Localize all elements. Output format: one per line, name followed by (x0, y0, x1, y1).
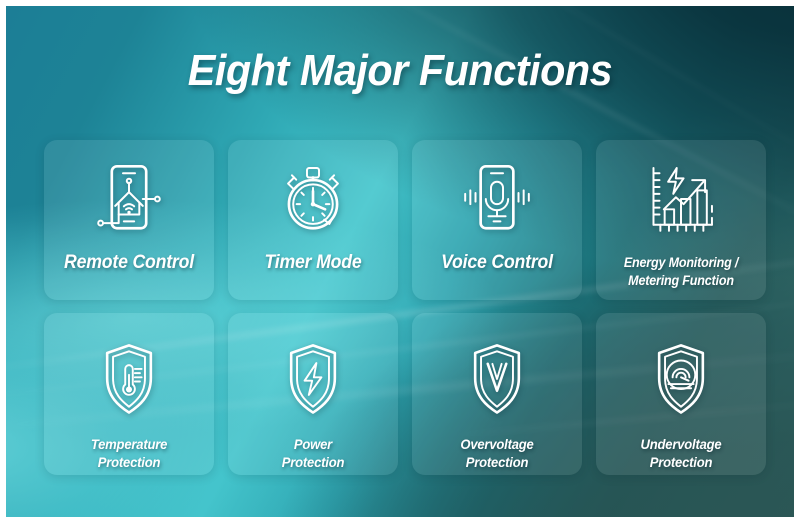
shield-thermometer-icon (83, 337, 175, 421)
poster-root: Eight Major Functions (0, 0, 800, 523)
card-remote-control[interactable]: Remote Control (44, 140, 214, 300)
smartphone-smart-home-wifi-icon (83, 156, 175, 242)
card-energy-monitoring[interactable]: Energy Monitoring / Metering Function (596, 140, 766, 300)
shield-bolt-icon (267, 337, 359, 421)
card-timer-mode[interactable]: Timer Mode (228, 140, 398, 300)
shield-letter-v-icon (451, 337, 543, 421)
stopwatch-icon (267, 156, 359, 242)
functions-grid: Remote Control (44, 140, 768, 475)
bar-chart-growth-bolt-icon (635, 156, 727, 242)
card-label: Timer Mode (239, 252, 388, 274)
card-label: Undervoltage Protection (607, 435, 756, 472)
page-title: Eight Major Functions (30, 46, 771, 96)
card-label: Temperature Protection (55, 435, 204, 472)
card-label: Energy Monitoring / Metering Function (607, 254, 756, 289)
card-label: Voice Control (423, 252, 572, 274)
card-voice-control[interactable]: Voice Control (412, 140, 582, 300)
card-power-protection[interactable]: Power Protection (228, 313, 398, 475)
card-label: Remote Control (55, 252, 204, 274)
card-label: Power Protection (239, 435, 388, 472)
card-label: Overvoltage Protection (423, 435, 572, 472)
shield-gauge-meter-icon (635, 337, 727, 421)
card-temperature-protection[interactable]: Temperature Protection (44, 313, 214, 475)
card-overvoltage-protection[interactable]: Overvoltage Protection (412, 313, 582, 475)
card-undervoltage-protection[interactable]: Undervoltage Protection (596, 313, 766, 475)
smartphone-microphone-soundwave-icon (451, 156, 543, 242)
